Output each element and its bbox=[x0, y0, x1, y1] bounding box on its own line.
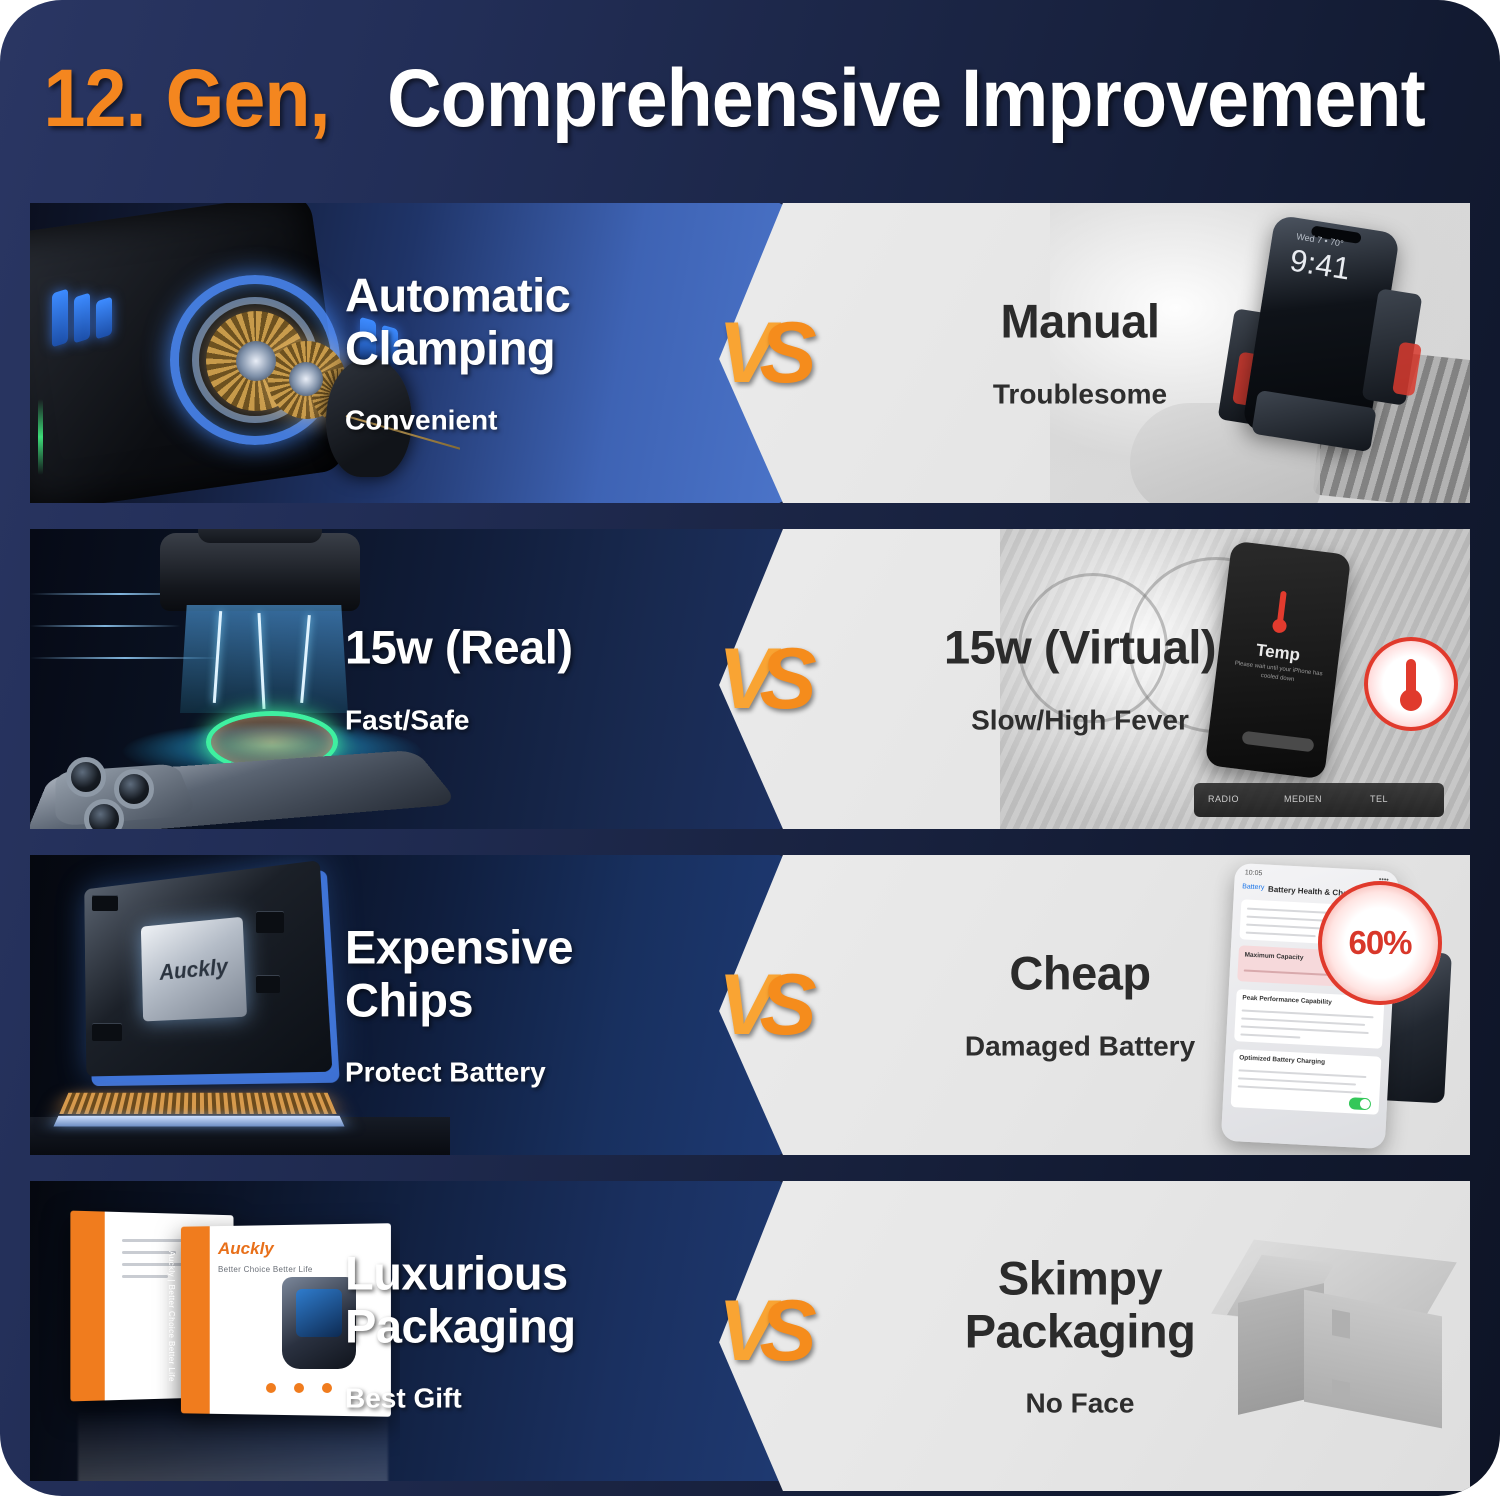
page-title-highlight: 12. Gen, bbox=[43, 52, 329, 146]
pro-headline-line1: Expensive bbox=[345, 921, 573, 974]
mount-phone-clock: 9:41 bbox=[1264, 239, 1376, 291]
con-subline: Slow/High Fever bbox=[890, 704, 1270, 736]
vs-divider-badge: VS bbox=[718, 962, 811, 1048]
con-text-block-clamping: Manual Troublesome bbox=[890, 296, 1270, 411]
vs-letter-s: S bbox=[759, 305, 810, 401]
con-panel-packaging: Skimpy Packaging No Face bbox=[710, 1181, 1470, 1491]
con-headline-line1: Manual bbox=[890, 296, 1270, 349]
pro-panel-wattage: 15w (Real) Fast/Safe bbox=[30, 529, 790, 829]
thermometer-icon bbox=[1364, 637, 1458, 731]
con-text-block-packaging: Skimpy Packaging No Face bbox=[890, 1252, 1270, 1419]
con-text-block-chips: Cheap Damaged Battery bbox=[890, 948, 1270, 1063]
con-subline: Troublesome bbox=[890, 378, 1270, 410]
vs-letter-s: S bbox=[759, 1283, 810, 1379]
con-headline-line1: Cheap bbox=[890, 948, 1270, 1001]
mount-phone-weather: Wed 7 • 70° bbox=[1266, 227, 1374, 254]
vs-divider-badge: VS bbox=[718, 1288, 811, 1374]
pro-subline: Fast/Safe bbox=[345, 704, 572, 736]
battery-screen-title: Battery Health & Charging bbox=[1268, 885, 1368, 899]
vs-divider-badge: VS bbox=[718, 636, 811, 722]
optimized-charging-toggle[interactable] bbox=[1349, 1097, 1372, 1110]
page-title: 12. Gen, Comprehensive Improvement bbox=[0, 52, 1500, 146]
con-panel-chips: 10:05 •••• Battery Battery Health & Char… bbox=[710, 855, 1470, 1155]
pro-headline-line1: 15w (Real) bbox=[345, 622, 572, 675]
pro-headline-line1: Automatic bbox=[345, 269, 570, 322]
pro-subline: Best Gift bbox=[345, 1383, 576, 1415]
pro-headline-line1: Luxurious bbox=[345, 1247, 576, 1300]
vs-divider-badge: VS bbox=[718, 310, 811, 396]
con-headline-line1: 15w (Virtual) bbox=[890, 622, 1270, 675]
battery-health-badge: 60% bbox=[1318, 881, 1442, 1005]
pro-text-block-wattage: 15w (Real) Fast/Safe bbox=[345, 622, 572, 737]
page-title-rest: Comprehensive Improvement bbox=[387, 52, 1425, 146]
phone-status-icons: •••• bbox=[1379, 876, 1389, 884]
con-subline: No Face bbox=[890, 1388, 1270, 1420]
infographic-page: 12. Gen, Comprehensive Improvement Autom… bbox=[0, 0, 1500, 1496]
pro-text-block-packaging: Luxurious Packaging Best Gift bbox=[345, 1247, 576, 1414]
pro-subline: Convenient bbox=[345, 405, 570, 437]
con-subline: Damaged Battery bbox=[890, 1030, 1270, 1062]
con-headline-line2: Packaging bbox=[890, 1305, 1270, 1358]
pro-text-block-chips: Expensive Chips Protect Battery bbox=[345, 921, 573, 1088]
con-panel-clamping: Wed 7 • 70° 9:41 Manual Troublesome bbox=[710, 203, 1470, 503]
comparison-row-packaging: Auckly | Better Choice Better Life Auckl… bbox=[30, 1181, 1470, 1481]
comparison-row-chips: Auckly Expensive Chips Protect Battery 1… bbox=[30, 855, 1470, 1155]
con-headline-line1: Skimpy bbox=[890, 1252, 1270, 1305]
pro-headline-line2: Clamping bbox=[345, 322, 570, 375]
vs-letter-s: S bbox=[759, 631, 810, 727]
pro-panel-clamping: Automatic Clamping Convenient bbox=[30, 203, 790, 503]
pro-panel-packaging: Auckly | Better Choice Better Life Auckl… bbox=[30, 1181, 790, 1481]
nav-back-label: Battery bbox=[1242, 883, 1265, 891]
con-text-block-wattage: 15w (Virtual) Slow/High Fever bbox=[890, 622, 1270, 737]
con-panel-wattage: Temp Please wait until your iPhone has c… bbox=[710, 529, 1470, 829]
battery-health-badge-value: 60% bbox=[1348, 924, 1411, 962]
pro-subline: Protect Battery bbox=[345, 1057, 573, 1089]
comparison-row-clamping: Automatic Clamping Convenient Wed 7 • 70… bbox=[30, 203, 1470, 503]
maximum-capacity-value: 60% bbox=[1366, 974, 1379, 982]
pro-panel-chips: Auckly Expensive Chips Protect Battery bbox=[30, 855, 790, 1155]
vs-letter-s: S bbox=[759, 957, 810, 1053]
pro-headline-line2: Chips bbox=[345, 974, 573, 1027]
phone-status-time: 10:05 bbox=[1245, 869, 1263, 877]
pro-text-block-clamping: Automatic Clamping Convenient bbox=[345, 269, 570, 436]
comparison-row-wattage: 15w (Real) Fast/Safe Temp Please wait un… bbox=[30, 529, 1470, 829]
pro-headline-line2: Packaging bbox=[345, 1300, 576, 1353]
